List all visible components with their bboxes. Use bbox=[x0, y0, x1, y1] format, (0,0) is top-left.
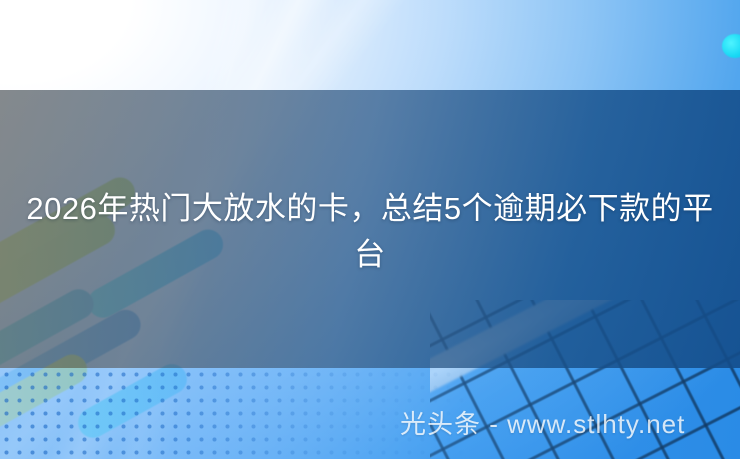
watermark: 光头条 - www.stlhty.net bbox=[400, 409, 685, 439]
page-title: 2026年热门大放水的卡，总结5个逾期必下款的平台 bbox=[0, 186, 740, 278]
cover-image: 2026年热门大放水的卡，总结5个逾期必下款的平台 光头条 - www.stlh… bbox=[0, 0, 740, 459]
